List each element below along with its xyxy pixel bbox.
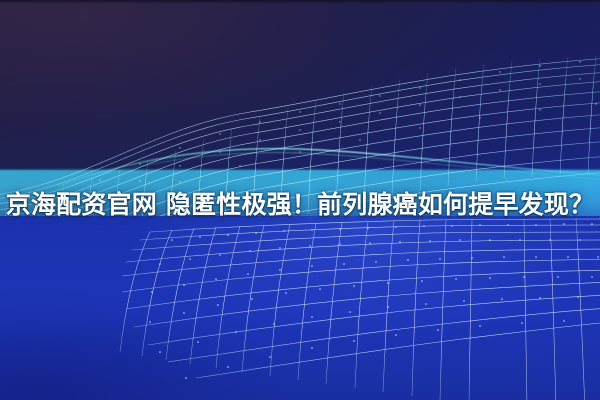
banner-headline-text: 京海配资官网 隐匿性极强！前列腺癌如何提早发现？	[6, 192, 595, 217]
lower-blue-field-sheen	[0, 216, 600, 400]
article-banner: 京海配资官网 隐匿性极强！前列腺癌如何提早发现？	[0, 0, 600, 400]
lower-blue-field	[0, 216, 600, 400]
banner-headline: 京海配资官网 隐匿性极强！前列腺癌如何提早发现？	[0, 186, 600, 222]
top-edge-shadow	[0, 0, 600, 4]
